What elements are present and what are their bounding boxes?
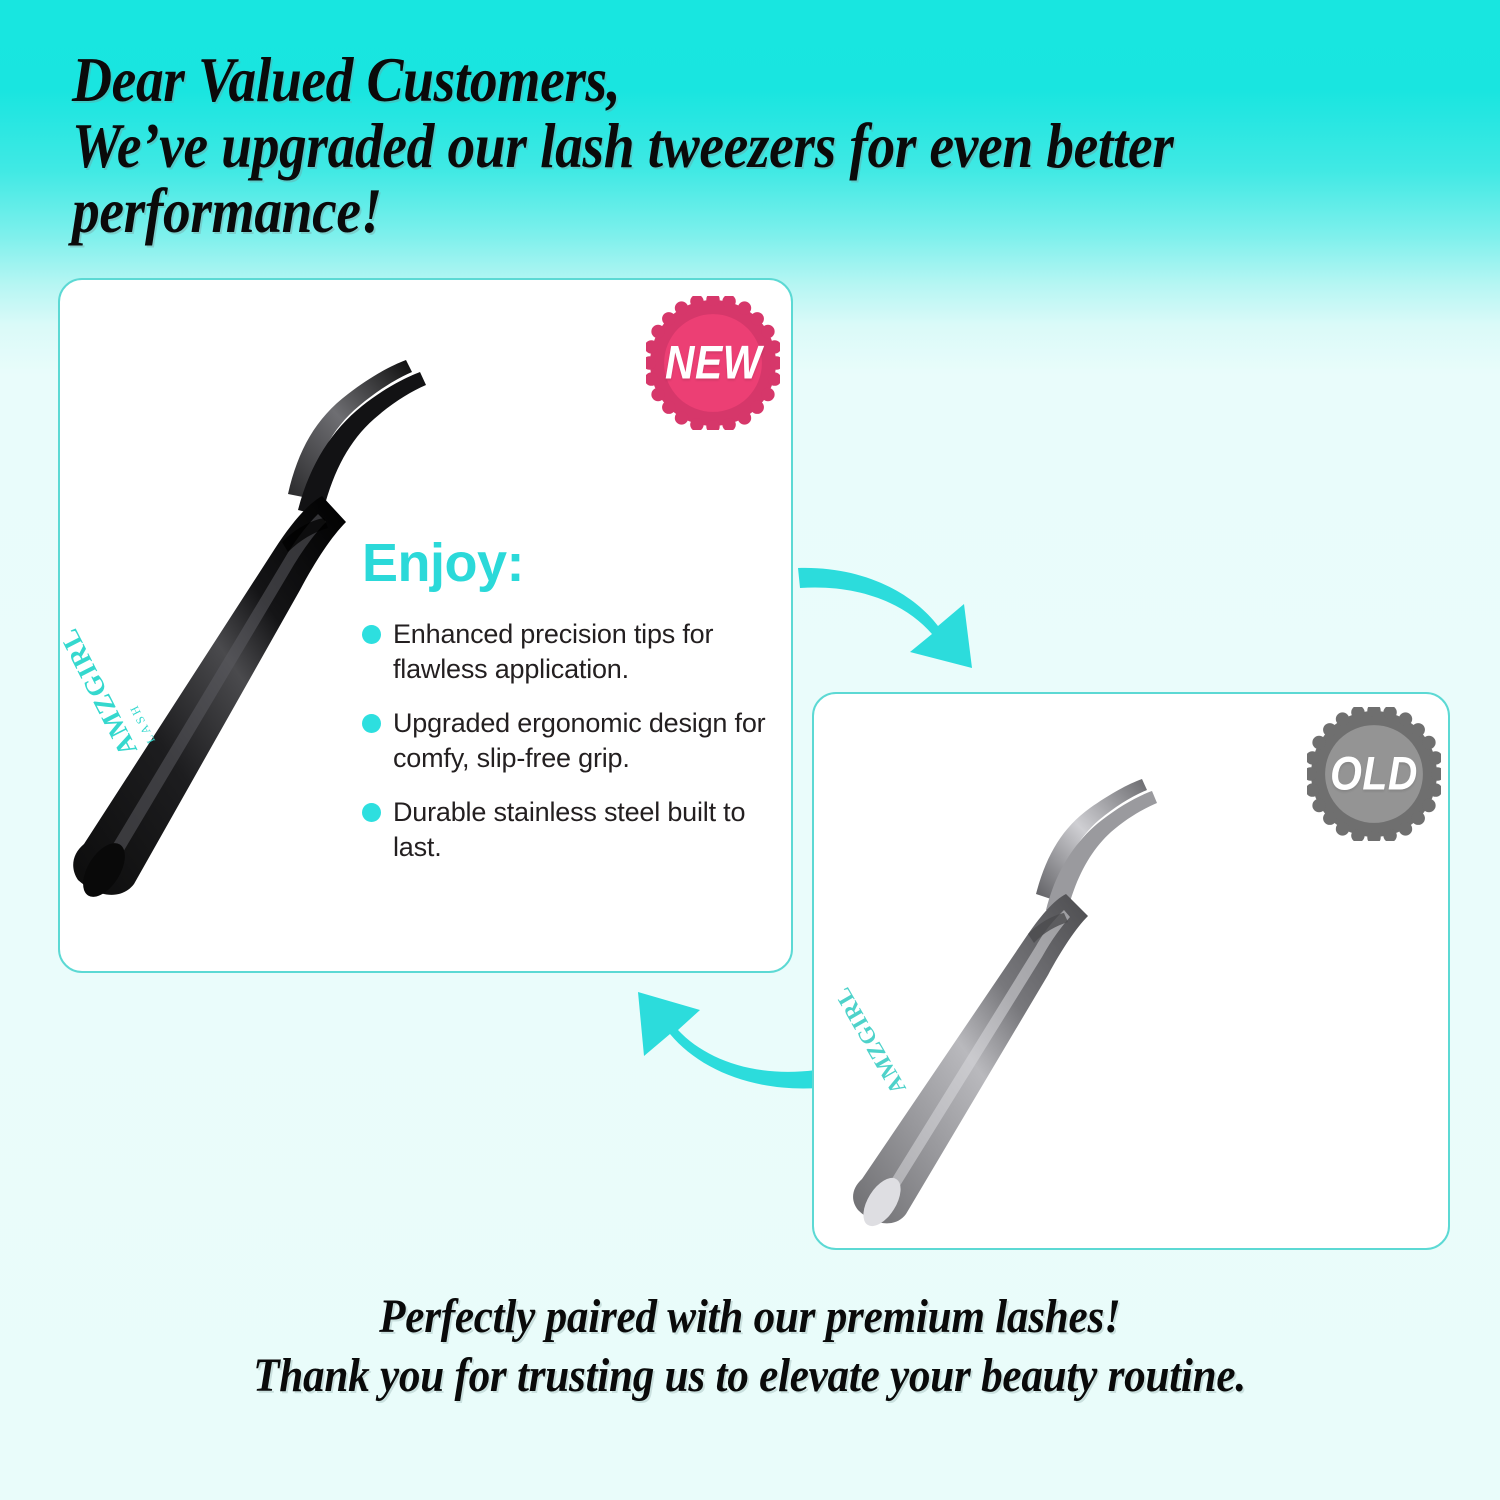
bullet-dot-icon [362, 625, 381, 644]
feature-text: Durable stainless steel built to last. [393, 795, 772, 864]
feature-text: Upgraded ergonomic design for comfy, sli… [393, 706, 772, 775]
feature-text: Enhanced precision tips for flawless app… [393, 617, 772, 686]
silver-lash-tweezers-icon [840, 718, 1290, 1230]
page-title: Dear Valued Customers, We’ve upgraded ou… [72, 48, 1286, 245]
bullet-dot-icon [362, 714, 381, 733]
headline-line-1: Dear Valued Customers, [72, 48, 1286, 114]
curved-arrow-down-right-icon [792, 552, 984, 674]
new-badge-label: NEW [665, 336, 762, 389]
enjoy-feature-block: Enjoy: Enhanced precision tips for flawl… [362, 536, 772, 884]
footer-message: Perfectly paired with our premium lashes… [0, 1288, 1500, 1405]
old-badge-label: OLD [1330, 747, 1418, 800]
footer-line-2-text: Thank you for trusting us to elevate you… [254, 1347, 1247, 1406]
list-item: Durable stainless steel built to last. [362, 795, 772, 864]
footer-line-2: Thank you for trusting us to elevate you… [0, 1347, 1500, 1406]
new-badge: NEW [646, 296, 780, 430]
enjoy-heading: Enjoy: [362, 536, 772, 590]
footer-line-1-text: Perfectly paired with our premium lashes… [379, 1288, 1120, 1347]
list-item: Upgraded ergonomic design for comfy, sli… [362, 706, 772, 775]
list-item: Enhanced precision tips for flawless app… [362, 617, 772, 686]
feature-list: Enhanced precision tips for flawless app… [362, 617, 772, 864]
bullet-dot-icon [362, 803, 381, 822]
curved-arrow-up-left-icon [628, 986, 823, 1104]
old-badge: OLD [1307, 707, 1441, 841]
headline-line-3: performance! [72, 179, 1286, 245]
promo-banner: Dear Valued Customers, We’ve upgraded ou… [0, 0, 1500, 1500]
headline-line-2: We’ve upgraded our lash tweezers for eve… [72, 114, 1286, 180]
footer-line-1: Perfectly paired with our premium lashes… [0, 1288, 1500, 1347]
